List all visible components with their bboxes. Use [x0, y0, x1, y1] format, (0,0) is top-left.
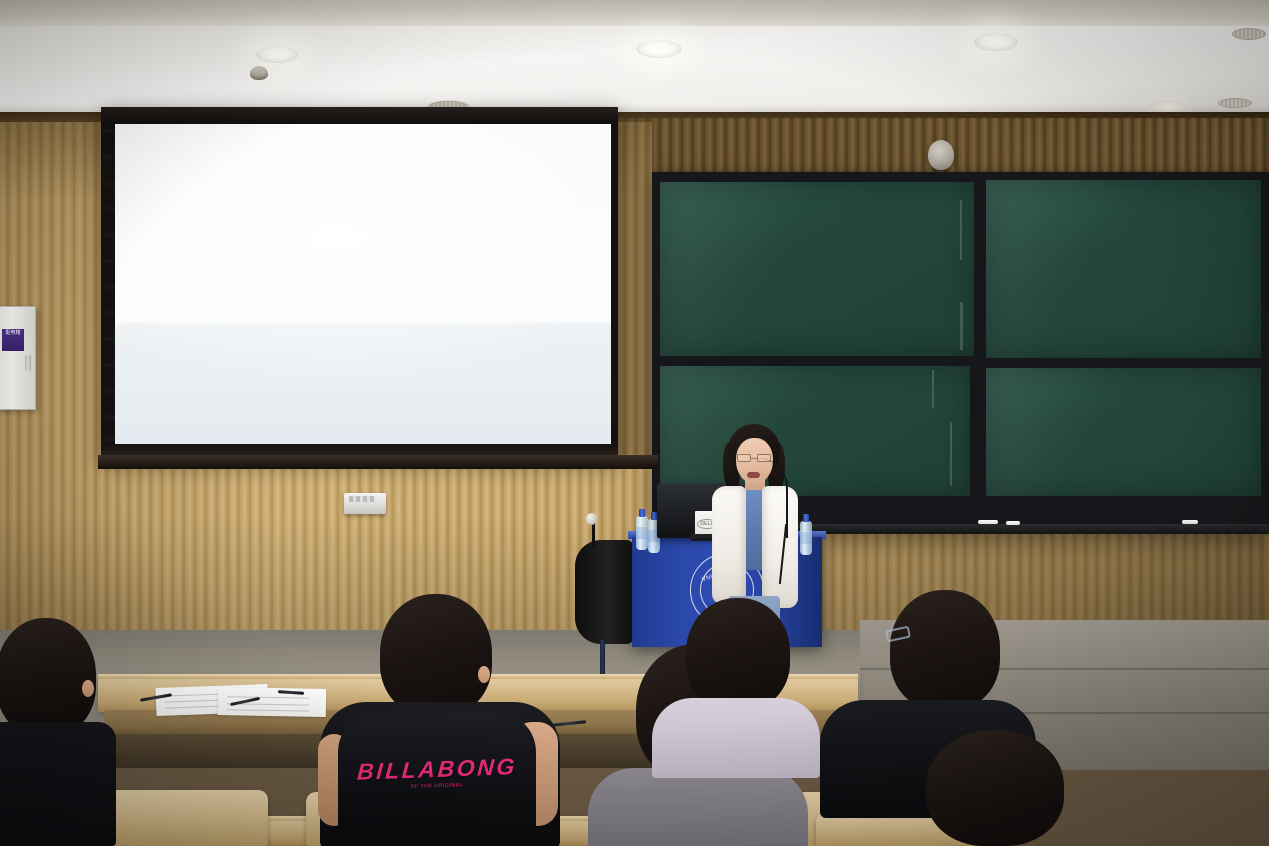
- lecture-hall-photo: 配电箱: [0, 0, 1269, 846]
- slide-logo-block: 吉林大学地球科学学院 College of Earth Science , Ji…: [153, 163, 332, 193]
- side-lectern: [575, 540, 633, 644]
- slide-thumbnail-row: [383, 171, 595, 211]
- student-front-left: [0, 618, 110, 846]
- student-lavender: [652, 598, 824, 778]
- panel-handle[interactable]: [25, 355, 31, 371]
- student-head: [0, 618, 96, 736]
- college-name-cn: 地球科学学院: [248, 166, 332, 181]
- ceiling-downlight: [256, 46, 298, 63]
- student-head: [926, 730, 1064, 846]
- smoke-detector-icon: [250, 66, 268, 80]
- ceiling-vent: [1218, 98, 1252, 108]
- ceiling-downlight: [1150, 100, 1186, 112]
- presentation-slide: 吉林大学地球科学学院 College of Earth Science , Ji…: [115, 124, 611, 444]
- university-name-cn: 吉林大学: [189, 166, 245, 181]
- blackboard-panel-bottom-right: [986, 368, 1261, 496]
- ceiling-downlight: [974, 33, 1018, 51]
- university-seal-icon: [153, 163, 183, 193]
- wall-wood-band-left: [618, 118, 654, 466]
- presenter-cardigan-left: [712, 486, 746, 604]
- wall-wood-band-above-board: [652, 118, 1269, 176]
- student-shirt: [0, 722, 116, 846]
- red-rock-formation-photo: [383, 171, 441, 211]
- student-far-right: [908, 730, 1086, 846]
- student-ear: [478, 666, 490, 683]
- screen-top-bar: [101, 107, 618, 125]
- billabong-logo: BILLABONG OF THE ORIGINAL: [342, 756, 532, 796]
- slide-logo-text-en: College of Earth Science , Jilin Univers…: [189, 182, 332, 189]
- screen-tension-hooks: [103, 125, 115, 443]
- ceiling-vent: [1232, 28, 1266, 40]
- water-bottle[interactable]: [636, 516, 648, 550]
- panel-label: 配电箱: [2, 329, 24, 351]
- ceiling-edge-beam: [0, 0, 1269, 26]
- ceiling: [0, 0, 1269, 118]
- student-shirt: [588, 768, 808, 846]
- screen-ledge-shelf: [98, 455, 658, 469]
- electrical-panel-box[interactable]: 配电箱: [0, 306, 36, 410]
- projector-control-box[interactable]: [344, 493, 386, 514]
- blackboard-panel-top-right: [986, 180, 1261, 358]
- yellow-green-hills-photo: [537, 171, 595, 211]
- slide-logo-text: 吉林大学地球科学学院: [189, 167, 332, 181]
- student-ear: [82, 680, 94, 697]
- slide-date: 2025年8月: [115, 382, 611, 403]
- student-head: [686, 598, 790, 710]
- slide-title: 地球科学学院新生学习指南: [115, 250, 611, 295]
- student-billabong: BILLABONG OF THE ORIGINAL: [316, 594, 572, 846]
- grey-mountain-range-photo: [460, 171, 518, 211]
- chalk-piece[interactable]: [1182, 520, 1198, 524]
- chalk-piece[interactable]: [978, 520, 998, 524]
- ceiling-downlight: [636, 40, 682, 58]
- chalk-piece[interactable]: [1006, 521, 1020, 525]
- student-head: [890, 590, 1000, 710]
- blackboard-panel-top-left: [660, 182, 974, 356]
- student-head: [380, 594, 492, 716]
- student-shirt: [652, 698, 820, 778]
- wall-speaker-icon: [928, 140, 954, 170]
- projection-screen: 吉林大学地球科学学院 College of Earth Science , Ji…: [101, 107, 618, 459]
- microphone-icon: [586, 513, 597, 525]
